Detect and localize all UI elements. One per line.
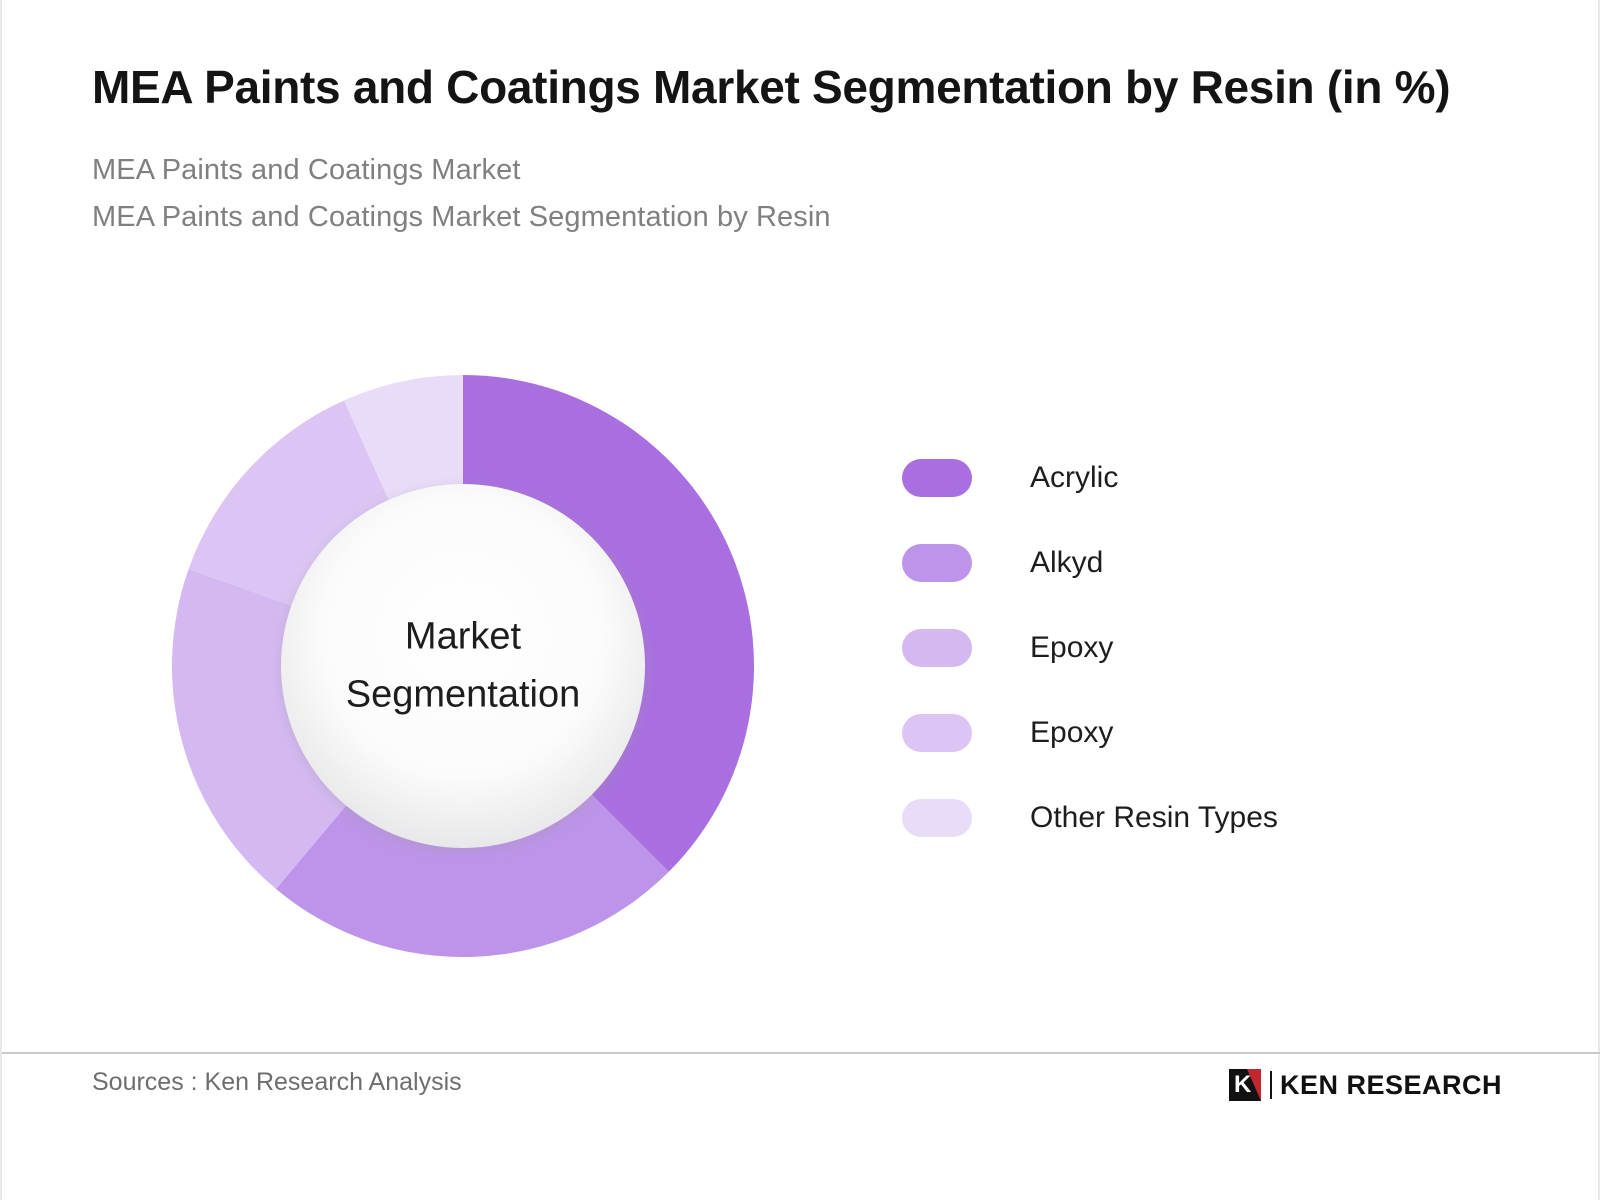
legend-item[interactable]: Acrylic xyxy=(902,435,1462,520)
slide-canvas: MEA Paints and Coatings Market Segmentat… xyxy=(0,0,1600,1200)
subtitle-line-2: MEA Paints and Coatings Market Segmentat… xyxy=(92,194,1492,241)
logo-separator xyxy=(1270,1071,1272,1099)
legend-swatch xyxy=(902,459,972,497)
legend-item[interactable]: Epoxy xyxy=(902,690,1462,775)
legend-item[interactable]: Other Resin Types xyxy=(902,775,1462,860)
legend-label: Acrylic xyxy=(1030,461,1118,495)
legend-label: Other Resin Types xyxy=(1030,801,1278,835)
brand-name: KEN RESEARCH xyxy=(1280,1070,1502,1101)
subtitle-block: MEA Paints and Coatings Market MEA Paint… xyxy=(92,147,1492,241)
donut-svg xyxy=(172,375,754,957)
ken-shield-icon: K xyxy=(1229,1069,1261,1101)
ken-research-logo: K KEN RESEARCH xyxy=(1229,1068,1502,1102)
legend-swatch xyxy=(902,629,972,667)
sources-note: Sources : Ken Research Analysis xyxy=(92,1068,462,1097)
legend-swatch xyxy=(902,544,972,582)
subtitle-line-1: MEA Paints and Coatings Market xyxy=(92,147,1492,194)
legend-label: Epoxy xyxy=(1030,631,1113,665)
footer-divider xyxy=(2,1052,1600,1054)
page-title: MEA Paints and Coatings Market Segmentat… xyxy=(92,58,1462,117)
legend-item[interactable]: Alkyd xyxy=(902,520,1462,605)
donut-chart: Market Segmentation xyxy=(172,375,754,957)
chart-area: Market Segmentation AcrylicAlkydEpoxyEpo… xyxy=(2,340,1600,1020)
legend-label: Alkyd xyxy=(1030,546,1103,580)
legend-swatch xyxy=(902,714,972,752)
chart-header: MEA Paints and Coatings Market Segmentat… xyxy=(92,58,1492,241)
donut-hub xyxy=(281,484,645,848)
legend-item[interactable]: Epoxy xyxy=(902,605,1462,690)
chart-legend: AcrylicAlkydEpoxyEpoxyOther Resin Types xyxy=(902,435,1462,860)
legend-swatch xyxy=(902,799,972,837)
logo-red-wedge xyxy=(1247,1069,1261,1101)
legend-label: Epoxy xyxy=(1030,716,1113,750)
